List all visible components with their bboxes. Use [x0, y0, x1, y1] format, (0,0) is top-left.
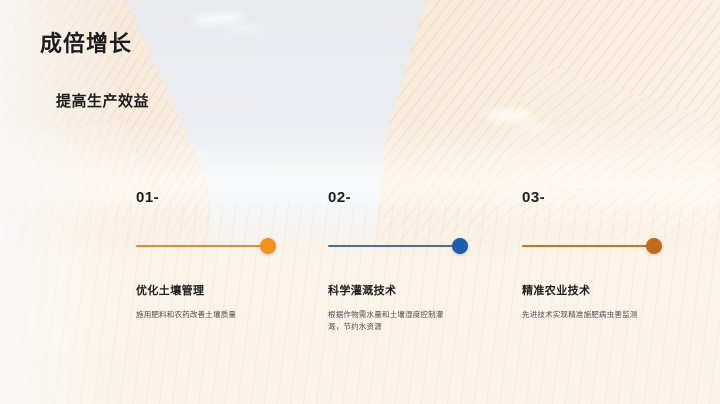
feature-column-3: 03- 精准农业技术 先进技术实现精准施肥病虫害监测: [522, 188, 702, 321]
feature-heading: 优化土壤管理: [136, 282, 316, 298]
slide-canvas: 成倍增长 提高生产效益 01- 优化土壤管理 施用肥料和农药改善土壤质量 02-…: [0, 0, 720, 404]
feature-column-2: 02- 科学灌溉技术 根据作物需水量和土壤湿度控制灌溉，节约水资源: [328, 188, 508, 334]
feature-description: 施用肥料和农药改善土壤质量: [136, 309, 262, 321]
track-line: [136, 245, 270, 247]
page-subtitle: 提高生产效益: [56, 90, 149, 111]
feature-description: 先进技术实现精准施肥病虫害监测: [522, 309, 648, 321]
feature-heading: 精准农业技术: [522, 282, 702, 298]
feature-column-1: 01- 优化土壤管理 施用肥料和农药改善土壤质量: [136, 188, 316, 321]
track-dot-marker: [260, 238, 276, 254]
page-title: 成倍增长: [40, 26, 132, 58]
progress-track-1: [136, 236, 316, 256]
step-number: 02-: [328, 188, 508, 208]
track-line: [522, 245, 656, 247]
feature-heading: 科学灌溉技术: [328, 282, 508, 298]
track-dot-marker: [452, 238, 468, 254]
track-line: [328, 245, 462, 247]
progress-track-3: [522, 236, 702, 256]
feature-description: 根据作物需水量和土壤湿度控制灌溉，节约水资源: [328, 309, 454, 334]
step-number: 01-: [136, 188, 316, 208]
progress-track-2: [328, 236, 508, 256]
slide-content: 成倍增长 提高生产效益 01- 优化土壤管理 施用肥料和农药改善土壤质量 02-…: [0, 0, 720, 404]
step-number: 03-: [522, 188, 702, 208]
track-dot-marker: [646, 238, 662, 254]
